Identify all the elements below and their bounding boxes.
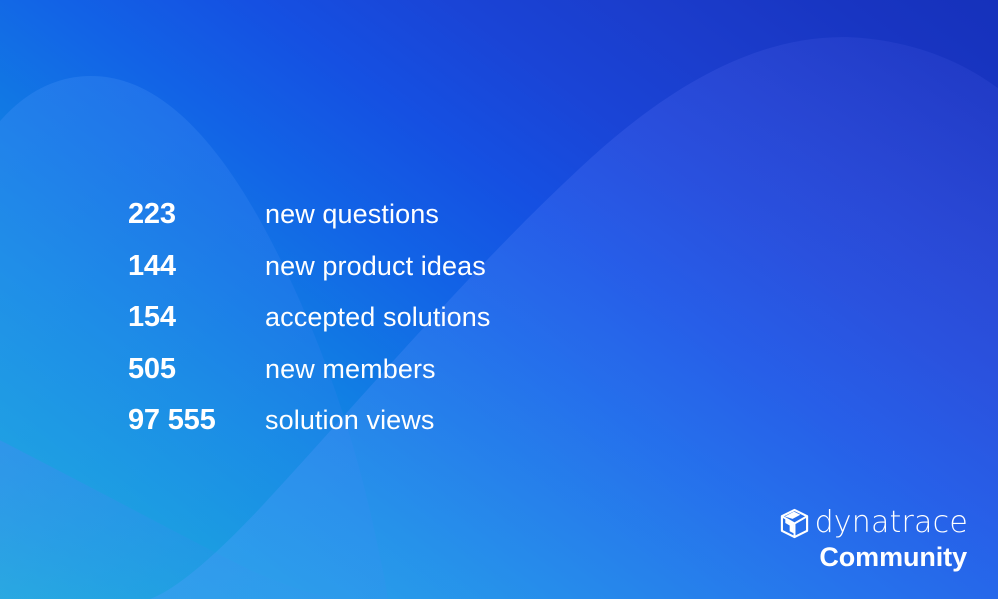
stat-label: new members [265,344,436,396]
logo-primary-row: dynatrace [779,506,968,540]
stats-list: 223 new questions 144 new product ideas … [128,189,490,447]
stat-row: 505 new members [128,344,490,396]
stat-row: 154 accepted solutions [128,292,490,344]
dynatrace-community-logo: dynatrace Community [779,506,968,571]
community-stats-banner: 223 new questions 144 new product ideas … [0,0,998,599]
stat-value: 144 [128,241,265,293]
stat-label: new questions [265,189,439,241]
stat-value: 154 [128,292,265,344]
dynatrace-wordmark: dynatrace [815,508,968,538]
stat-row: 223 new questions [128,189,490,241]
community-wordmark: Community [819,544,967,571]
stat-label: new product ideas [265,241,486,293]
stat-label: solution views [265,395,434,447]
stat-row: 97 555 solution views [128,395,490,447]
stat-value: 223 [128,189,265,241]
dynatrace-cube-icon [779,508,810,539]
stat-row: 144 new product ideas [128,241,490,293]
stat-label: accepted solutions [265,292,490,344]
wave-shape-accent [0,420,345,599]
stat-value: 97 555 [128,395,265,447]
stat-value: 505 [128,344,265,396]
